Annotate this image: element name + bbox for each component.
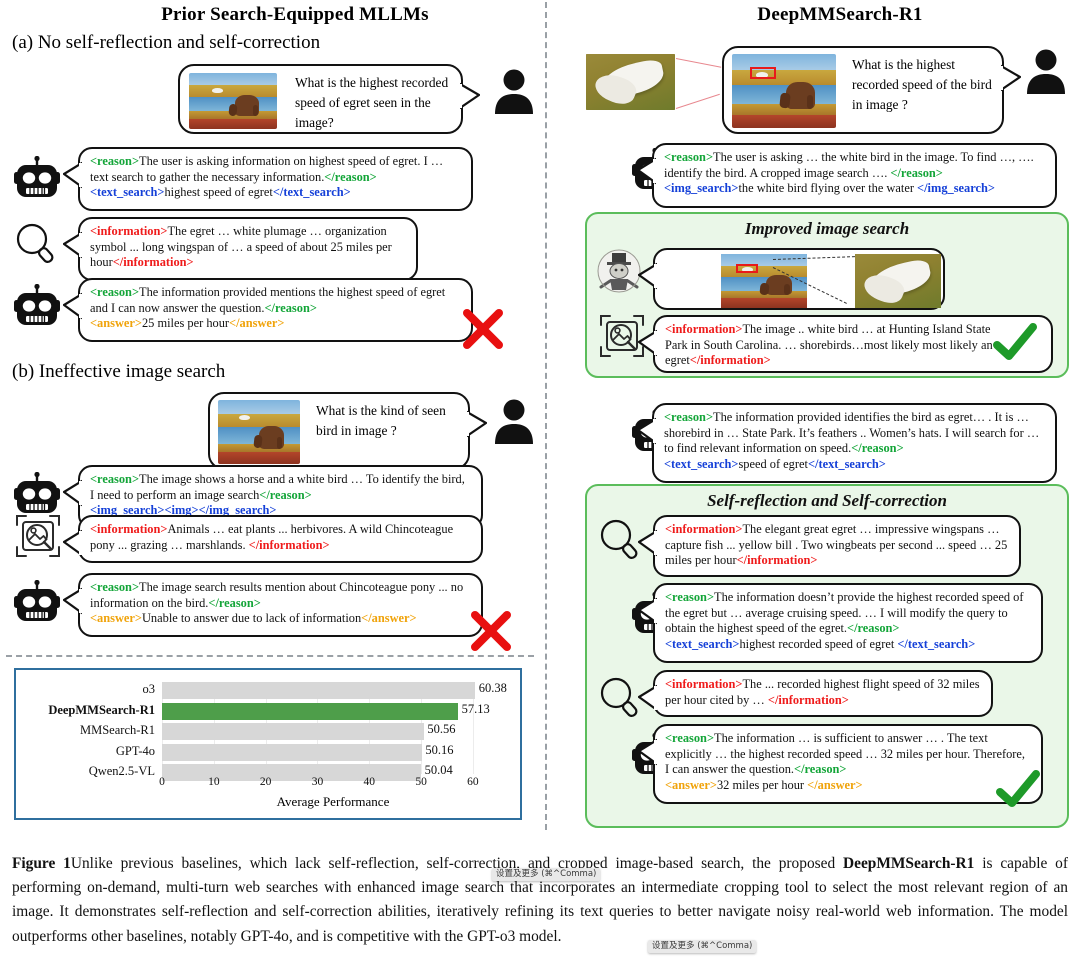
agent-r3-search-line: <text_search>speed of egret</text_search… — [664, 457, 1046, 473]
crop-region-box — [736, 264, 758, 273]
self-reflection-title: Self-reflection and Self-correction — [587, 491, 1067, 511]
agent-r5-query: highest recorded speed of egret — [739, 637, 897, 651]
section-a-heading: (a) No self-reflection and self-correcti… — [12, 32, 320, 54]
cropped-bird-thumbnail — [586, 54, 675, 110]
bubble-tail — [638, 262, 656, 288]
agent-bubble-r1: <reason>The user is asking … the white b… — [652, 143, 1057, 208]
information-close-tag: </information> — [249, 538, 330, 552]
user-bubble-a: What is the highest recorded speed of eg… — [178, 64, 463, 134]
reason-open-tag: <reason> — [90, 285, 139, 299]
tool-bubble-b2: <information>Animals … eat plants ... he… — [78, 515, 483, 563]
bubble-tail — [637, 417, 655, 443]
reason-open-tag: <reason> — [665, 590, 714, 604]
user-question-right-text: What is the highest recorded speed of th… — [852, 55, 992, 115]
caption-model-name: DeepMMSearch-R1 — [843, 855, 974, 872]
img-search-close-tag: </img_search> — [917, 181, 995, 195]
user-bubble-b: What is the kind of seen bird in image ? — [208, 392, 470, 470]
answer-open-tag: <answer> — [90, 316, 142, 330]
reason-open-tag: <reason> — [90, 472, 139, 486]
user-question-b-text: What is the kind of seen bird in image ? — [316, 401, 458, 441]
correct-mark-2 — [996, 770, 1040, 815]
agent-a3-answer-line: <answer>25 miles per hour</answer> — [90, 316, 462, 332]
agent-r3-query: speed of egret — [738, 457, 808, 471]
reason-open-tag: <reason> — [664, 150, 713, 164]
reason-close-tag: </reason> — [847, 621, 899, 635]
cropped-image-thumbnail — [855, 254, 941, 308]
robot-icon — [14, 284, 60, 332]
agent-bubble-r5: <reason>The information doesn’t provide … — [653, 583, 1043, 663]
information-close-tag: </information> — [113, 255, 194, 269]
text-search-icon — [14, 222, 60, 268]
cropping-tool-icon — [597, 248, 641, 294]
chart-value-label: 50.16 — [425, 743, 453, 758]
crop-leader-line — [676, 94, 720, 109]
user-avatar-b — [493, 398, 535, 444]
tool-bubble-a2: <information>The egret … white plumage …… — [78, 217, 418, 281]
incorrect-mark-b — [468, 608, 514, 659]
section-b-heading: (b) Ineffective image search — [12, 361, 225, 383]
text-search-open-tag: <text_search> — [664, 457, 738, 471]
information-open-tag: <information> — [665, 677, 742, 691]
answer-close-tag: </answer> — [361, 611, 416, 625]
cropped-image-bubble — [653, 248, 945, 310]
bubble-tail — [638, 329, 656, 355]
chart-bar-row: o3 60.38 — [162, 682, 504, 699]
chart-xtick: 10 — [208, 776, 220, 788]
settings-and-more-tooltip-2: 设置及更多 (⌘^Comma) — [648, 940, 756, 953]
img-search-open-tag: <img_search> — [664, 181, 738, 195]
bubble-tail — [467, 410, 487, 438]
bubble-tail — [638, 529, 656, 555]
chart-bar-row: GPT-4o 50.16 — [162, 744, 504, 761]
question-thumbnail-a — [189, 73, 277, 129]
answer-open-tag: <answer> — [665, 778, 717, 792]
crop-region-box — [750, 67, 776, 79]
agent-a1-search-line: <text_search>highest speed of egret</tex… — [90, 185, 462, 201]
bubble-tail — [63, 479, 81, 505]
agent-b3-answer: Unable to answer due to lack of informat… — [142, 611, 361, 625]
reason-close-tag: </reason> — [851, 441, 903, 455]
agent-r7-answer-line: <answer>32 miles per hour </answer> — [665, 778, 1032, 794]
tool-r4-line: <information>The elegant great egret … i… — [665, 522, 1010, 569]
agent-r5-search-line: <text_search>highest recorded speed of e… — [665, 637, 1032, 653]
bubble-tail — [638, 597, 656, 623]
text-search-close-tag: </text_search> — [897, 637, 975, 651]
agent-r5-line: <reason>The information doesn’t provide … — [665, 590, 1032, 637]
chart-value-label: 50.56 — [427, 722, 455, 737]
improved-image-search-title: Improved image search — [587, 219, 1067, 239]
chart-xtick: 30 — [312, 776, 324, 788]
agent-b3-answer-line: <answer>Unable to answer due to lack of … — [90, 611, 472, 627]
user-avatar-a — [493, 68, 535, 114]
agent-b1-line: <reason>The image shows a horse and a wh… — [90, 472, 472, 503]
chart-category-label: DeepMMSearch-R1 — [48, 703, 155, 718]
reason-close-tag: </reason> — [890, 166, 942, 180]
chart-xtick: 60 — [467, 776, 479, 788]
agent-b3-line: <reason>The image search results mention… — [90, 580, 472, 611]
agent-a1-query: highest speed of egret — [164, 185, 272, 199]
robot-icon — [14, 580, 60, 628]
caption-occluded-text-2: bly GPT-4o — [217, 928, 289, 945]
information-open-tag: <information> — [665, 522, 742, 536]
bubble-tail — [63, 529, 81, 555]
chart-xtick: 50 — [415, 776, 427, 788]
crop-leader-line — [676, 58, 721, 68]
agent-bubble-b3: <reason>The image search results mention… — [78, 573, 483, 637]
performance-chart: o3 60.38 DeepMMSearch-R1 57.13 MMSearch-… — [14, 668, 522, 820]
agent-r5-reason: The information doesn’t provide the high… — [665, 590, 1023, 635]
agent-r1-query: the white bird flying over the water — [738, 181, 917, 195]
reason-close-tag: </reason> — [208, 596, 260, 610]
chart-bar-row: MMSearch-R1 50.56 — [162, 723, 504, 740]
information-close-tag: </information> — [690, 353, 771, 367]
incorrect-mark-a — [460, 306, 506, 357]
bubble-tail — [637, 157, 655, 183]
chart-category-label: Qwen2.5-VL — [89, 764, 155, 779]
agent-r7-answer: 32 miles per hour — [717, 778, 807, 792]
right-column-title: DeepMMSearch-R1 — [690, 4, 990, 26]
agent-a1-reason: The user is asking information on highes… — [90, 154, 443, 184]
caption-part-1: Unlike previous baselines, which lack se… — [71, 855, 843, 872]
chart-plot-area: o3 60.38 DeepMMSearch-R1 57.13 MMSearch-… — [162, 682, 504, 774]
caption-part-4: , and is competitive with the GPT-o3 mod… — [289, 928, 562, 945]
question-thumbnail-b — [218, 400, 300, 464]
answer-close-tag: </answer> — [229, 316, 284, 330]
agent-a3-answer: 25 miles per hour — [142, 316, 229, 330]
reason-open-tag: <reason> — [665, 731, 714, 745]
chart-category-label: MMSearch-R1 — [80, 723, 155, 738]
vertical-divider — [545, 2, 547, 830]
figure-caption: Figure 1Unlike previous baselines, which… — [12, 852, 1068, 949]
chart-category-label: GPT-4o — [116, 744, 155, 759]
text-search-open-tag: <text_search> — [665, 637, 739, 651]
tool-bubble-r6: <information>The ... recorded highest fl… — [653, 670, 993, 717]
robot-icon — [14, 156, 60, 204]
text-search-close-tag: </text_search> — [808, 457, 886, 471]
agent-r1-imgsearch-line: <img_search>the white bird flying over t… — [664, 181, 1046, 197]
agent-bubble-r7: <reason>The information … is sufficient … — [653, 724, 1043, 804]
reason-close-tag: </reason> — [794, 762, 846, 776]
agent-r1-line: <reason>The user is asking … the white b… — [664, 150, 1046, 181]
bubble-tail — [1001, 64, 1021, 92]
tool-a2-line: <information>The egret … white plumage …… — [90, 224, 407, 271]
user-question-a-text: What is the highest recorded speed of eg… — [295, 73, 451, 133]
information-close-tag: </information> — [768, 693, 849, 707]
text-search-close-tag: </text_search> — [273, 185, 351, 199]
agent-a1-line: <reason>The user is asking information o… — [90, 154, 462, 185]
reason-close-tag: </reason> — [264, 301, 316, 315]
bubble-tail — [638, 738, 656, 764]
chart-xtick: 20 — [260, 776, 272, 788]
agent-bubble-a1: <reason>The user is asking information o… — [78, 147, 473, 211]
source-image-thumbnail — [721, 254, 807, 308]
chart-value-label: 57.13 — [462, 702, 490, 717]
user-avatar-right — [1025, 48, 1067, 94]
bubble-tail — [460, 82, 480, 110]
correct-mark-1 — [993, 323, 1037, 368]
information-open-tag: <information> — [665, 322, 742, 336]
user-bubble-right: What is the highest recorded speed of th… — [722, 46, 1004, 134]
reason-close-tag: </reason> — [259, 488, 311, 502]
figure-caption-label: Figure 1 — [12, 855, 71, 872]
figure-1: Prior Search-Equipped MLLMs DeepMMSearch… — [0, 0, 1080, 975]
text-search-open-tag: <text_search> — [90, 185, 164, 199]
chart-x-axis-label: Average Performance — [162, 794, 504, 810]
left-column-title: Prior Search-Equipped MLLMs — [130, 4, 460, 26]
tool-bubble-r4: <information>The elegant great egret … i… — [653, 515, 1021, 577]
tool-r2-line: <information>The image .. white bird … a… — [665, 322, 995, 369]
agent-r3-line: <reason>The information provided identif… — [664, 410, 1046, 457]
chart-bar-row: DeepMMSearch-R1 57.13 — [162, 703, 504, 720]
chart-xtick: 40 — [364, 776, 376, 788]
bubble-tail — [63, 161, 81, 187]
bubble-tail — [63, 231, 81, 257]
agent-bubble-a3: <reason>The information provided mention… — [78, 278, 473, 342]
answer-close-tag: </answer> — [807, 778, 862, 792]
reason-close-tag: </reason> — [324, 170, 376, 184]
tool-r6-line: <information>The ... recorded highest fl… — [665, 677, 982, 708]
chart-bar — [162, 682, 475, 699]
bubble-tail — [638, 684, 656, 710]
chart-bar-highlight — [162, 703, 458, 720]
reason-open-tag: <reason> — [90, 154, 139, 168]
settings-and-more-tooltip-1: 设置及更多 (⌘^Comma) — [492, 868, 600, 881]
caption-occluded-text-1: on-demand, — [87, 879, 160, 896]
image-search-icon — [14, 512, 62, 560]
answer-open-tag: <answer> — [90, 611, 142, 625]
agent-a3-line: <reason>The information provided mention… — [90, 285, 462, 316]
horizontal-divider — [6, 655, 534, 657]
chart-value-label: 60.38 — [479, 681, 507, 696]
reason-open-tag: <reason> — [90, 580, 139, 594]
chart-rows: o3 60.38 DeepMMSearch-R1 57.13 MMSearch-… — [162, 682, 504, 774]
agent-b3-reason: The image search results mention about C… — [90, 580, 463, 610]
bubble-tail — [63, 292, 81, 318]
agent-bubble-r3: <reason>The information provided identif… — [652, 403, 1057, 483]
chart-bar — [162, 723, 424, 740]
chart-category-label: o3 — [143, 682, 156, 697]
bubble-tail — [63, 587, 81, 613]
chart-bar — [162, 744, 422, 761]
agent-r1-reason: The user is asking … the white bird in t… — [664, 150, 1034, 180]
information-close-tag: </information> — [737, 553, 818, 567]
information-open-tag: <information> — [90, 224, 167, 238]
question-thumbnail-right — [732, 54, 836, 128]
agent-r7-line: <reason>The information … is sufficient … — [665, 731, 1032, 778]
reason-open-tag: <reason> — [664, 410, 713, 424]
tool-b2-line: <information>Animals … eat plants ... he… — [90, 522, 472, 553]
information-open-tag: <information> — [90, 522, 167, 536]
chart-xtick: 0 — [159, 776, 165, 788]
